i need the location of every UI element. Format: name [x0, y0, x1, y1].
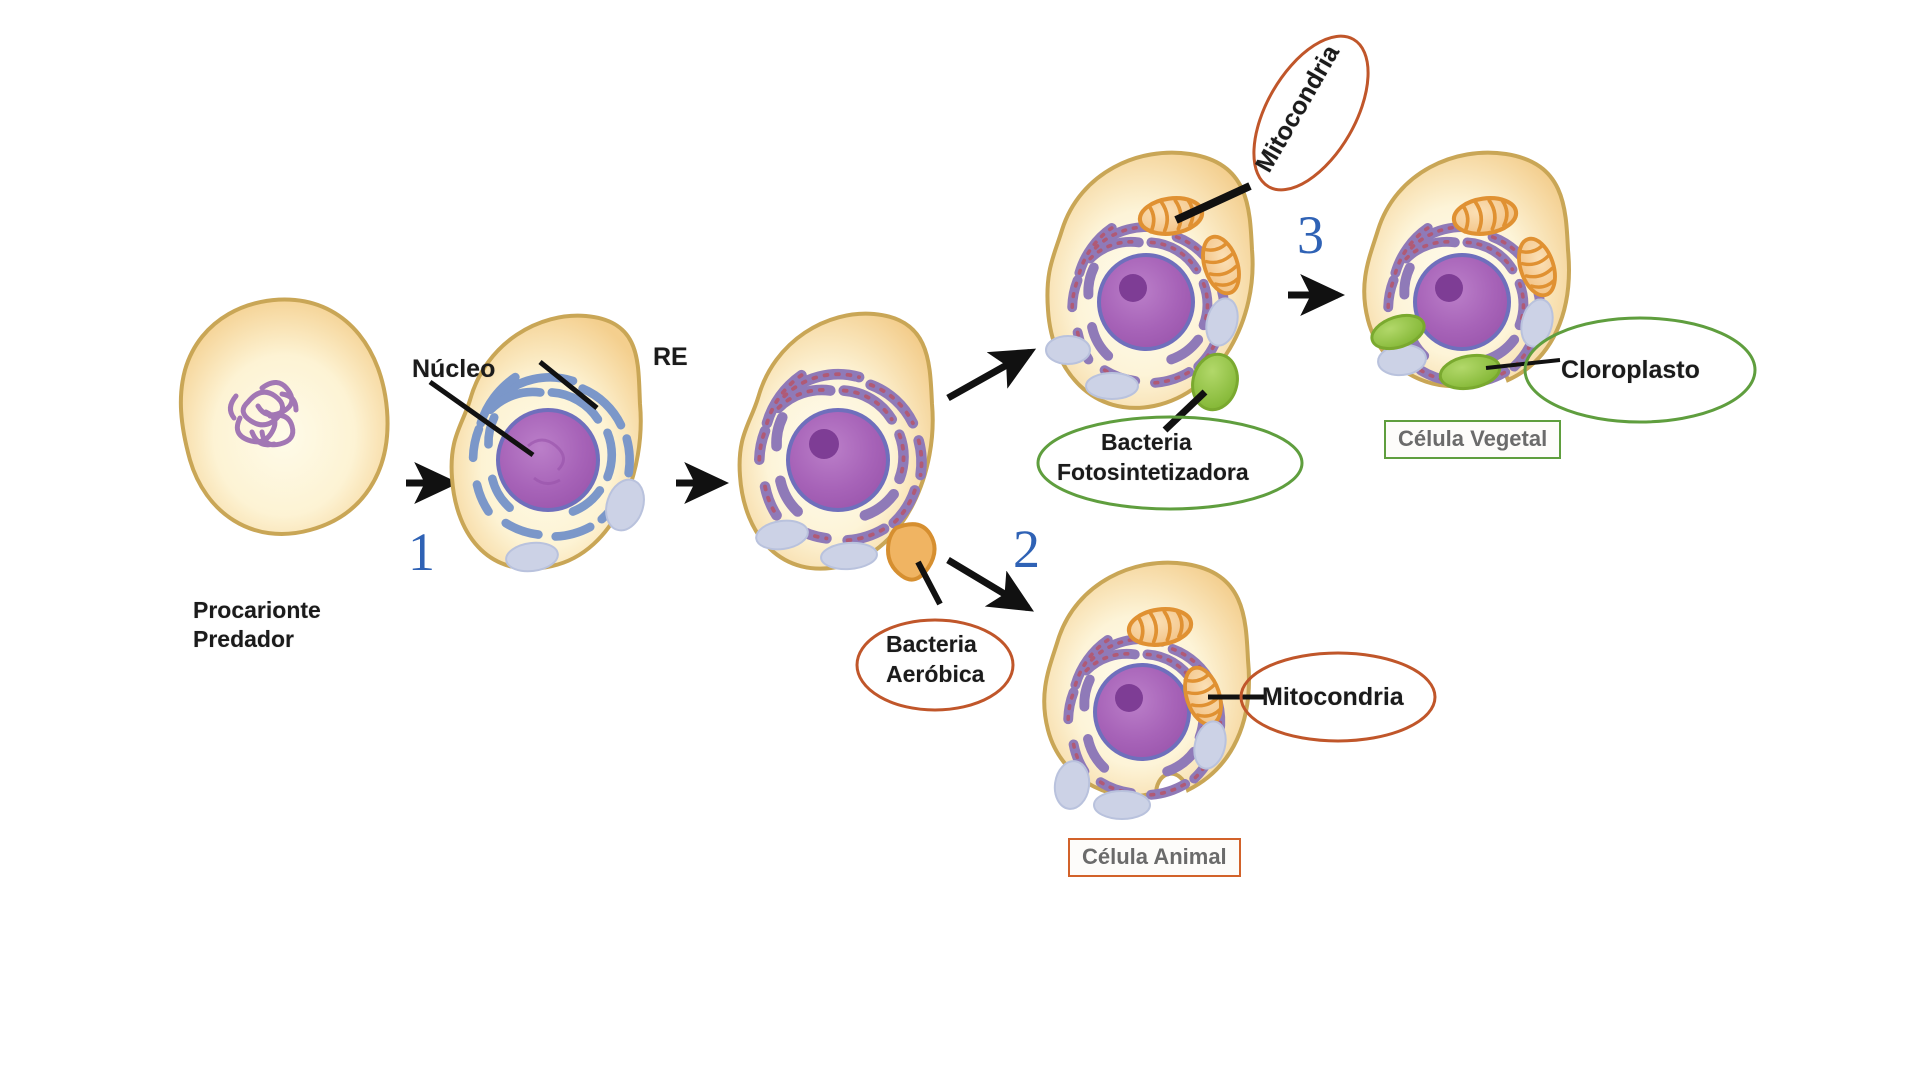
vacuole — [1086, 373, 1138, 399]
step-number-2: 2 — [1013, 522, 1040, 576]
label-procarionte-predador-line2: Predador — [193, 627, 294, 653]
nucleolus — [809, 429, 839, 459]
nucleus — [1099, 255, 1193, 349]
cell-photo-host[interactable] — [1046, 153, 1253, 415]
endosymbiosis-scene — [0, 0, 1920, 1080]
label-box-celula-vegetal: Célula Vegetal — [1384, 420, 1561, 459]
nucleus — [1095, 665, 1189, 759]
label-bacteria-fotosintetizadora-line2: Fotosintetizadora — [1057, 460, 1249, 486]
vacuole — [1094, 791, 1150, 819]
label-bacteria-fotosintetizadora-line1: Bacteria — [1101, 430, 1192, 456]
label-box-celula-animal: Célula Animal — [1068, 838, 1241, 877]
cell-animal[interactable] — [1044, 563, 1249, 819]
label-bacteria-aerobica-line2: Aeróbica — [886, 662, 984, 688]
nucleus — [498, 410, 598, 510]
diagram-canvas: Procarionte Predador Núcleo RE 1 2 3 Bac… — [0, 0, 1920, 1080]
cell-prokaryote[interactable] — [181, 300, 388, 534]
aerobic-bacterium[interactable] — [888, 524, 935, 579]
label-cloroplasto: Cloroplasto — [1561, 356, 1700, 384]
step-number-3: 3 — [1297, 208, 1324, 262]
nucleolus — [1119, 274, 1147, 302]
nucleus — [788, 410, 888, 510]
cell-engulfing[interactable] — [740, 314, 935, 580]
nucleolus — [1435, 274, 1463, 302]
arrow-branch-upper — [948, 352, 1030, 398]
nucleus — [1415, 255, 1509, 349]
label-re: RE — [653, 343, 688, 371]
label-nucleo: Núcleo — [412, 355, 495, 383]
label-bacteria-aerobica-line1: Bacteria — [886, 632, 977, 658]
nucleolus — [1115, 684, 1143, 712]
vacuole — [1046, 336, 1090, 364]
label-mitocondria-animal: Mitocondria — [1262, 683, 1404, 711]
step-number-1: 1 — [408, 525, 435, 579]
label-procarionte-predador-line1: Procarionte — [193, 598, 321, 624]
